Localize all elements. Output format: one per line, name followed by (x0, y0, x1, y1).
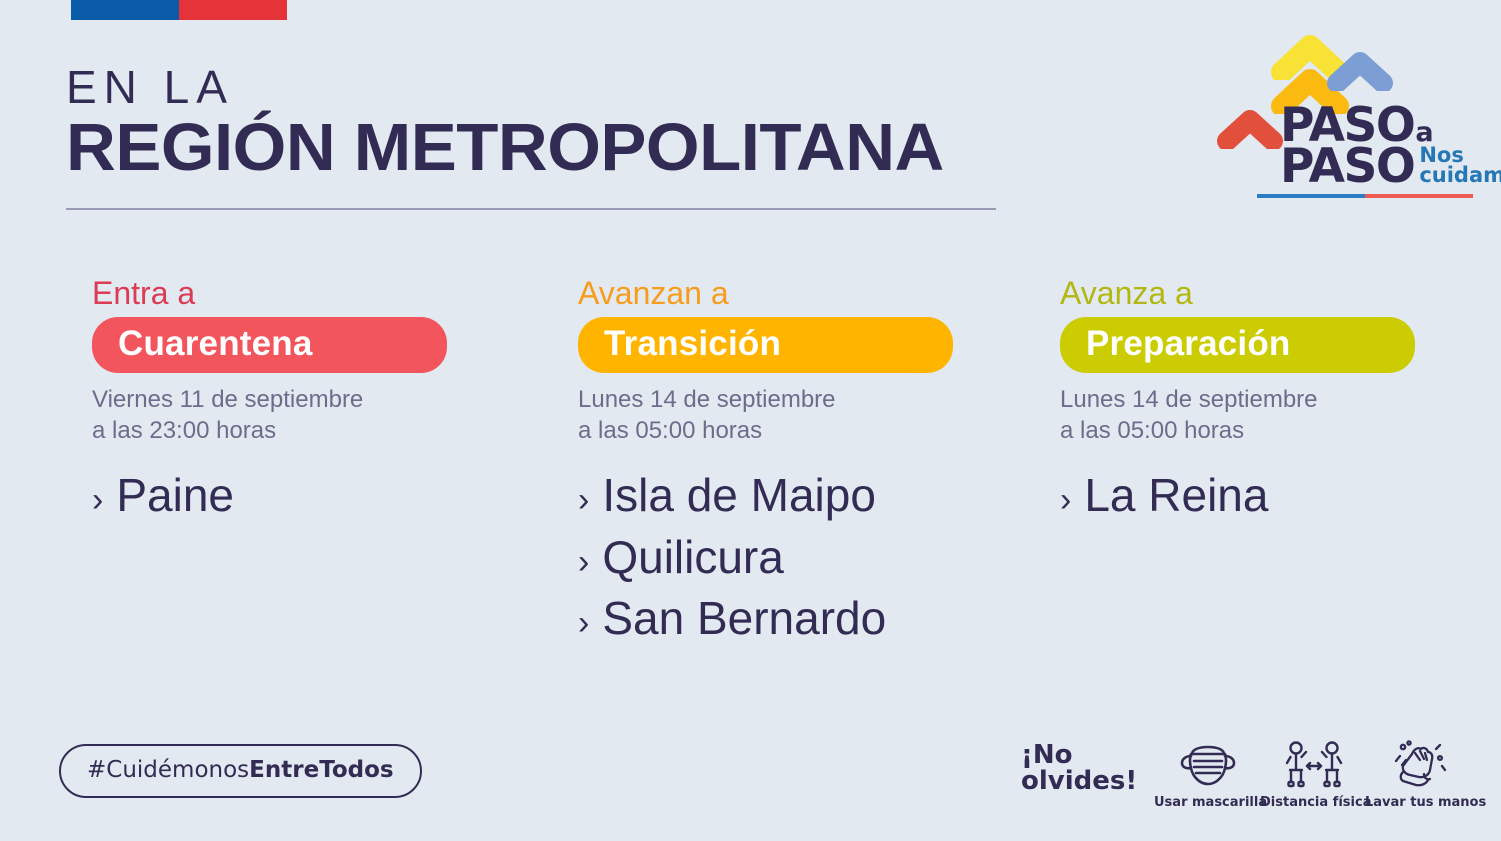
care-item-mask: Usar mascarilla (1154, 737, 1262, 810)
flag-blue-segment (71, 0, 179, 20)
chevron-right-icon: › (578, 606, 589, 640)
phase-date-line1: Lunes 14 de septiembre (1060, 386, 1318, 413)
municipality-name: Quilicura (602, 533, 784, 583)
logo-underline (1257, 194, 1473, 198)
chevron-right-icon: › (578, 545, 589, 579)
phase-column-transicion: Avanzan a Transición Lunes 14 de septiem… (578, 276, 1018, 656)
flag-red-segment (179, 0, 287, 20)
page-title: REGIÓN METROPOLITANA (66, 114, 1024, 182)
list-item: › San Bernardo (578, 594, 1018, 644)
phase-badge-cuarentena: Cuarentena (92, 317, 447, 373)
municipality-name: La Reina (1084, 471, 1268, 521)
phase-datetime-cuarentena: Viernes 11 de septiembre a las 23:00 hor… (92, 384, 522, 447)
phase-date-line2: a las 05:00 horas (1060, 417, 1244, 444)
phase-kicker-cuarentena: Entra a (92, 276, 522, 311)
municipality-list-preparacion: › La Reina (1060, 471, 1490, 521)
logo-line-2: PASO Nos cuidamos (1280, 146, 1501, 187)
chevron-right-icon: › (92, 483, 103, 517)
phase-datetime-preparacion: Lunes 14 de septiembre a las 05:00 horas (1060, 384, 1490, 447)
care-caption: Distancia física (1260, 795, 1368, 810)
phase-kicker-transicion: Avanzan a (578, 276, 1018, 311)
municipality-list-cuarentena: › Paine (92, 471, 522, 521)
list-item: › Paine (92, 471, 522, 521)
logo-wordmark: PASO a PASO Nos cuidamos (1280, 106, 1501, 187)
municipality-name: Isla de Maipo (602, 471, 876, 521)
physical-distance-icon (1260, 737, 1368, 793)
hashtag-bold-part: EntreTodos (249, 757, 393, 783)
phase-date-line1: Viernes 11 de septiembre (92, 386, 363, 413)
header-kicker: EN LA (66, 64, 996, 110)
logo-underline-blue (1257, 194, 1365, 198)
chevron-red-icon (1216, 107, 1284, 149)
care-reminders-block: ¡No olvides! Usar mascarilla (1021, 737, 1491, 817)
chevron-blue-icon (1326, 49, 1394, 91)
phase-date-line2: a las 23:00 horas (92, 417, 276, 444)
hashtag-light-part: #Cuidémonos (87, 757, 249, 783)
phase-datetime-transicion: Lunes 14 de septiembre a las 05:00 horas (578, 384, 1018, 447)
logo-underline-red (1365, 194, 1473, 198)
paso-a-paso-logo: PASO a PASO Nos cuidamos (1216, 28, 1488, 208)
phase-badge-transicion: Transición (578, 317, 953, 373)
face-mask-icon (1154, 737, 1262, 793)
phase-column-preparacion: Avanza a Preparación Lunes 14 de septiem… (1060, 276, 1490, 533)
phase-badge-preparacion: Preparación (1060, 317, 1415, 373)
logo-a: a (1415, 121, 1433, 144)
logo-tagline: Nos cuidamos (1419, 146, 1501, 185)
care-caption: Lavar tus manos (1365, 795, 1473, 810)
care-caption: Usar mascarilla (1154, 795, 1262, 810)
no-olvides-label: ¡No olvides! (1021, 742, 1137, 794)
phase-kicker-preparacion: Avanza a (1060, 276, 1490, 311)
chile-flag-bar (71, 0, 287, 20)
no-olvides-line2: olvides! (1021, 766, 1137, 796)
header-divider (66, 208, 996, 210)
logo-tagline-line2: cuidamos (1419, 163, 1501, 187)
care-item-wash-hands: Lavar tus manos (1365, 737, 1473, 810)
list-item: › Quilicura (578, 533, 1018, 583)
municipality-list-transicion: › Isla de Maipo › Quilicura › San Bernar… (578, 471, 1018, 644)
wash-hands-icon (1365, 737, 1473, 793)
care-item-distance: Distancia física (1260, 737, 1368, 810)
list-item: › La Reina (1060, 471, 1490, 521)
list-item: › Isla de Maipo (578, 471, 1018, 521)
phase-date-line2: a las 05:00 horas (578, 417, 762, 444)
municipality-name: Paine (116, 471, 234, 521)
header-block: EN LA REGIÓN METROPOLITANA (66, 64, 996, 182)
chevron-right-icon: › (1060, 483, 1071, 517)
municipality-name: San Bernardo (602, 594, 886, 644)
logo-paso-bottom: PASO (1280, 147, 1414, 187)
hashtag-badge: #CuidémonosEntreTodos (59, 744, 422, 798)
phase-date-line1: Lunes 14 de septiembre (578, 386, 836, 413)
phase-column-cuarentena: Entra a Cuarentena Viernes 11 de septiem… (92, 276, 522, 533)
chevron-right-icon: › (578, 483, 589, 517)
